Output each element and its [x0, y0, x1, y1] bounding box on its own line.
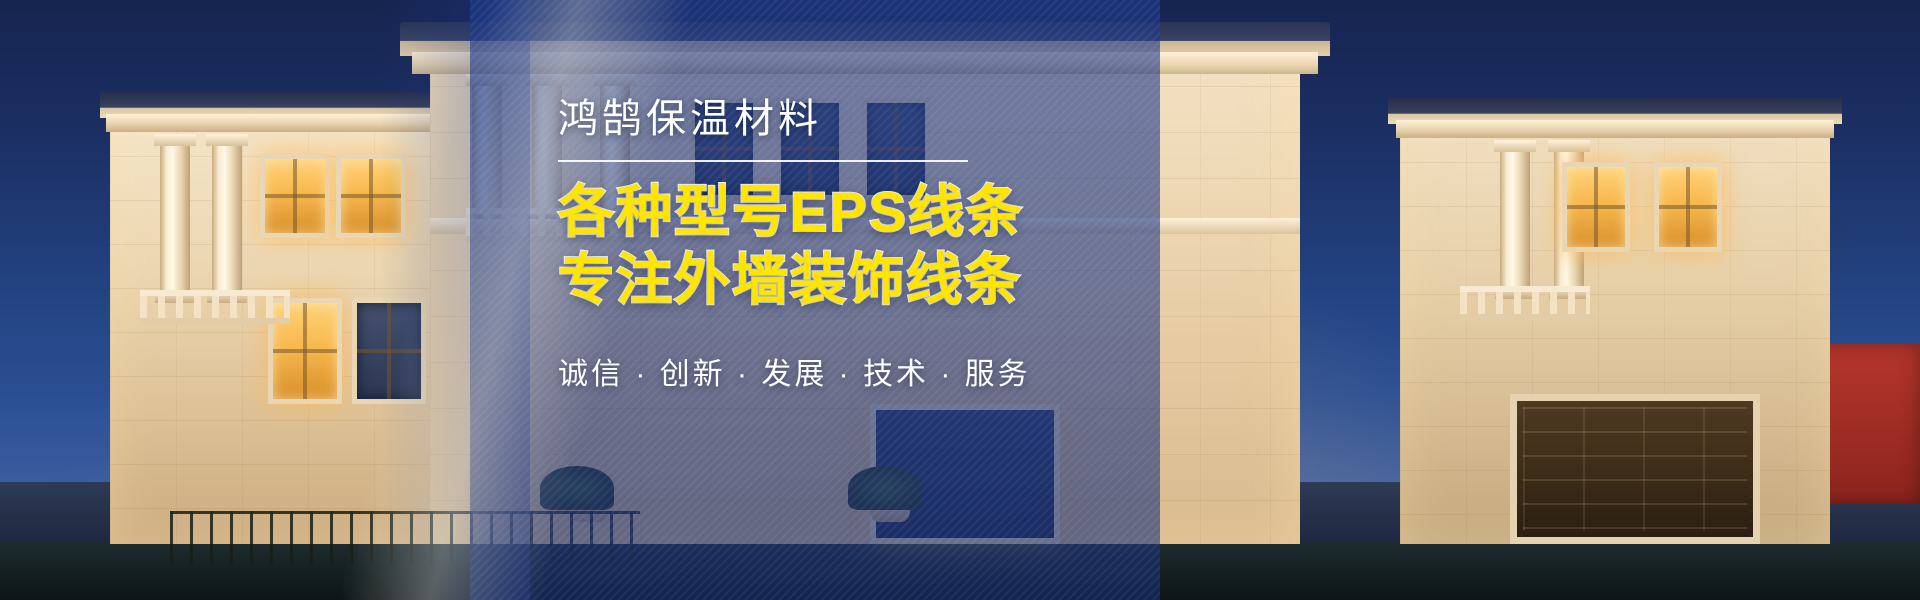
villa-right-cornice	[1396, 120, 1834, 138]
tagline: 诚信 · 创新 · 发展 · 技术 · 服务	[558, 349, 1118, 393]
window-right-upper-1	[1562, 162, 1630, 252]
balustrade-right	[1460, 286, 1590, 320]
divider-rule	[558, 160, 968, 162]
garage-door	[1510, 394, 1760, 544]
window-right-upper-2	[1654, 162, 1722, 252]
brand-name: 鸿鹄保温材料	[558, 96, 1118, 142]
hero-banner: 鸿鹄保温材料 各种型号EPS线条 专注外墙装饰线条 诚信 · 创新 · 发展 ·…	[0, 0, 1920, 600]
window-left-upper-1	[260, 154, 330, 238]
balustrade-left	[140, 290, 290, 324]
headline-line-1: 各种型号EPS线条	[558, 178, 1118, 246]
hero-text-block: 鸿鹄保温材料 各种型号EPS线条 专注外墙装饰线条 诚信 · 创新 · 发展 ·…	[558, 96, 1118, 393]
column-left-b	[212, 144, 242, 294]
headline-line-2: 专注外墙装饰线条	[558, 246, 1118, 314]
column-left-a	[160, 144, 190, 294]
column-right-a	[1500, 150, 1530, 290]
